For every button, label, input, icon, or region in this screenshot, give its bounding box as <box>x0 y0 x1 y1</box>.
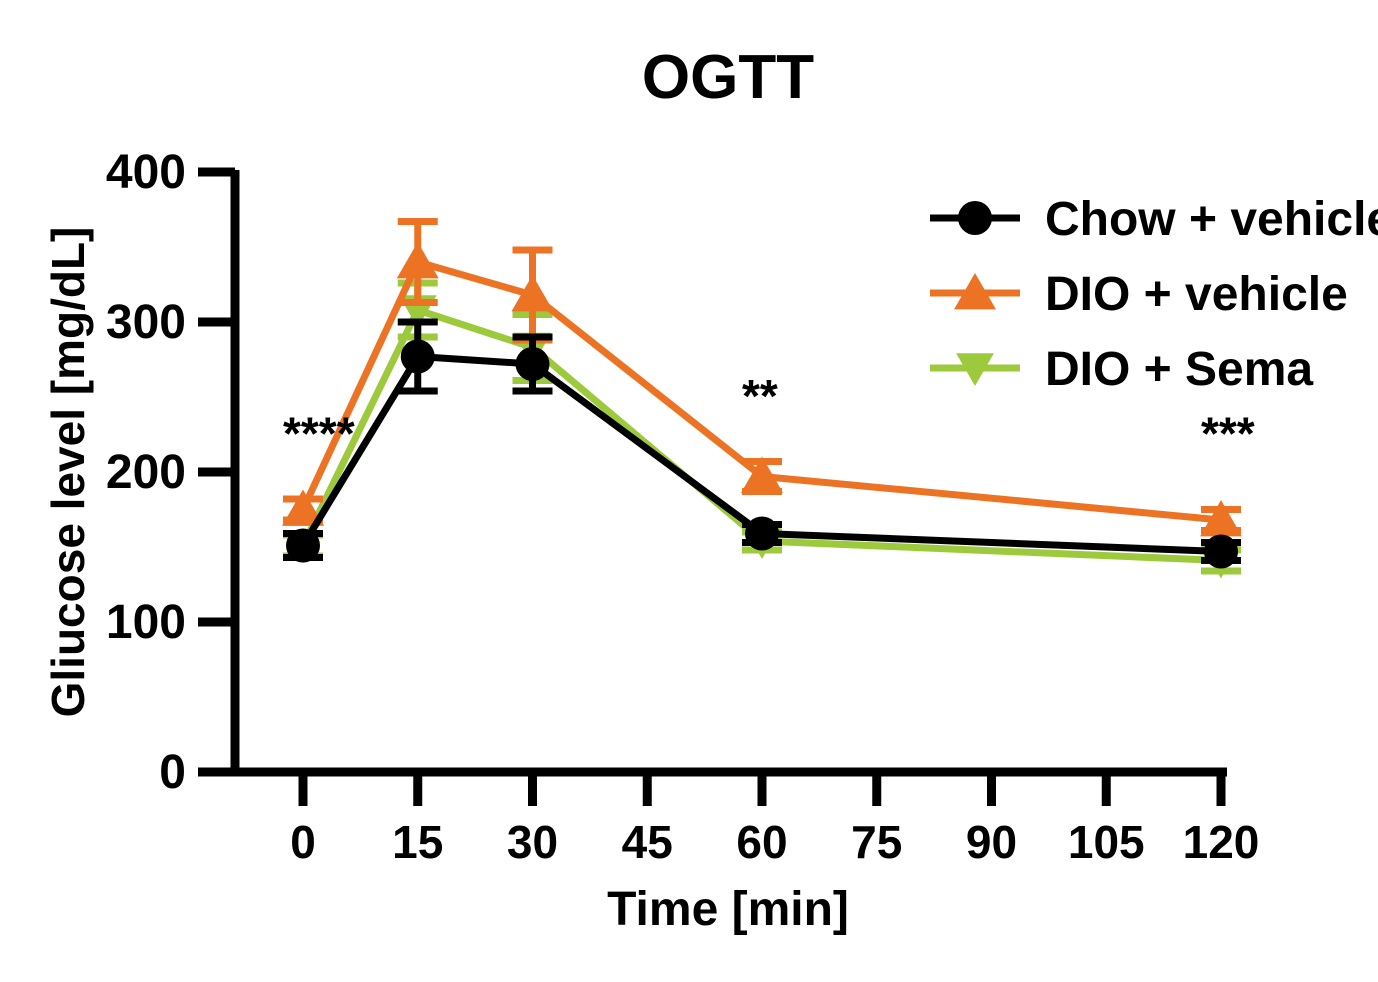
data-point-marker <box>745 517 779 551</box>
x-axis-tick-labels: 0153045607590105120 <box>290 816 1259 868</box>
x-tick-label: 75 <box>851 816 902 868</box>
chart-legend: Chow + vehicleDIO + vehicleDIO + Sema <box>930 193 1378 396</box>
x-axis-title: Time [min] <box>607 883 849 936</box>
legend-item[interactable]: Chow + vehicle <box>930 193 1378 246</box>
significance-marker: ** <box>742 370 778 422</box>
y-axis-title: Gliucose level [mg/dL] <box>42 227 94 718</box>
legend-marker-swatch <box>958 201 992 235</box>
data-point-marker <box>516 347 550 381</box>
x-tick-label: 0 <box>290 816 316 868</box>
y-tick-label: 200 <box>106 446 186 499</box>
ogtt-line-chart: OGTT Gliucose level [mg/dL] Time [min] 0… <box>0 0 1378 982</box>
chart-title: OGTT <box>642 43 814 112</box>
data-point-marker <box>401 340 435 374</box>
y-tick-label: 100 <box>106 596 186 649</box>
chart-figure: OGTT Gliucose level [mg/dL] Time [min] 0… <box>0 0 1378 982</box>
data-point-marker <box>1204 535 1238 569</box>
legend-label: DIO + vehicle <box>1045 268 1348 321</box>
legend-item[interactable]: DIO + Sema <box>930 343 1313 396</box>
x-tick-label: 45 <box>622 816 673 868</box>
axis-spines <box>231 170 1227 776</box>
y-tick-label: 300 <box>106 296 186 349</box>
x-tick-label: 105 <box>1068 816 1145 868</box>
legend-label: Chow + vehicle <box>1045 193 1378 246</box>
y-axis-tick-labels: 0100200300400 <box>106 146 186 799</box>
significance-marker: **** <box>283 408 355 460</box>
y-tick-label: 0 <box>159 746 186 799</box>
significance-marker: *** <box>1201 408 1255 460</box>
x-tick-label: 15 <box>392 816 443 868</box>
x-tick-label: 90 <box>966 816 1017 868</box>
x-tick-label: 60 <box>736 816 787 868</box>
x-tick-label: 120 <box>1183 816 1260 868</box>
y-axis-ticks <box>198 172 235 772</box>
legend-item[interactable]: DIO + vehicle <box>930 268 1348 321</box>
x-axis-ticks <box>303 772 1221 806</box>
data-point-marker <box>397 242 439 278</box>
x-tick-label: 30 <box>507 816 558 868</box>
legend-label: DIO + Sema <box>1045 343 1313 396</box>
data-point-marker <box>286 529 320 563</box>
y-tick-label: 400 <box>106 146 186 199</box>
